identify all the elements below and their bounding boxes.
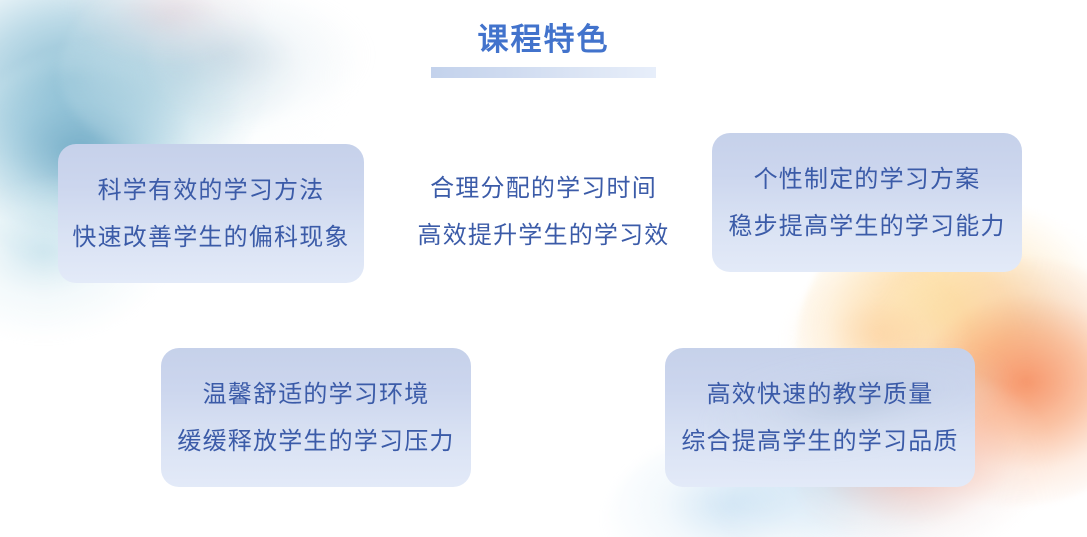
feature-card-study-time[interactable]: 合理分配的学习时间 高效提升学生的学习效 bbox=[398, 160, 689, 264]
feature-card-teaching-quality[interactable]: 高效快速的教学质量 综合提高学生的学习品质 bbox=[665, 348, 975, 487]
feature-card-study-method[interactable]: 科学有效的学习方法 快速改善学生的偏科现象 bbox=[58, 144, 364, 283]
feature-card-line-1: 个性制定的学习方案 bbox=[754, 156, 981, 203]
feature-card-line-1: 高效快速的教学质量 bbox=[707, 371, 934, 418]
feature-card-line-1: 科学有效的学习方法 bbox=[98, 167, 325, 214]
feature-card-line-2: 缓缓释放学生的学习压力 bbox=[177, 418, 454, 465]
feature-card-line-1: 温馨舒适的学习环境 bbox=[203, 371, 430, 418]
feature-card-line-2: 高效提升学生的学习效 bbox=[418, 212, 670, 259]
feature-card-study-plan[interactable]: 个性制定的学习方案 稳步提高学生的学习能力 bbox=[712, 133, 1022, 272]
feature-card-line-2: 综合提高学生的学习品质 bbox=[681, 418, 958, 465]
feature-card-line-2: 稳步提高学生的学习能力 bbox=[728, 203, 1005, 250]
title-block: 课程特色 bbox=[0, 20, 1087, 60]
feature-card-line-2: 快速改善学生的偏科现象 bbox=[72, 214, 349, 261]
slide-canvas: 课程特色 科学有效的学习方法 快速改善学生的偏科现象 合理分配的学习时间 高效提… bbox=[0, 0, 1087, 537]
page-title: 课程特色 bbox=[0, 20, 1087, 60]
title-underline-bar bbox=[431, 67, 656, 78]
feature-card-study-environment[interactable]: 温馨舒适的学习环境 缓缓释放学生的学习压力 bbox=[161, 348, 471, 487]
feature-card-line-1: 合理分配的学习时间 bbox=[430, 165, 657, 212]
